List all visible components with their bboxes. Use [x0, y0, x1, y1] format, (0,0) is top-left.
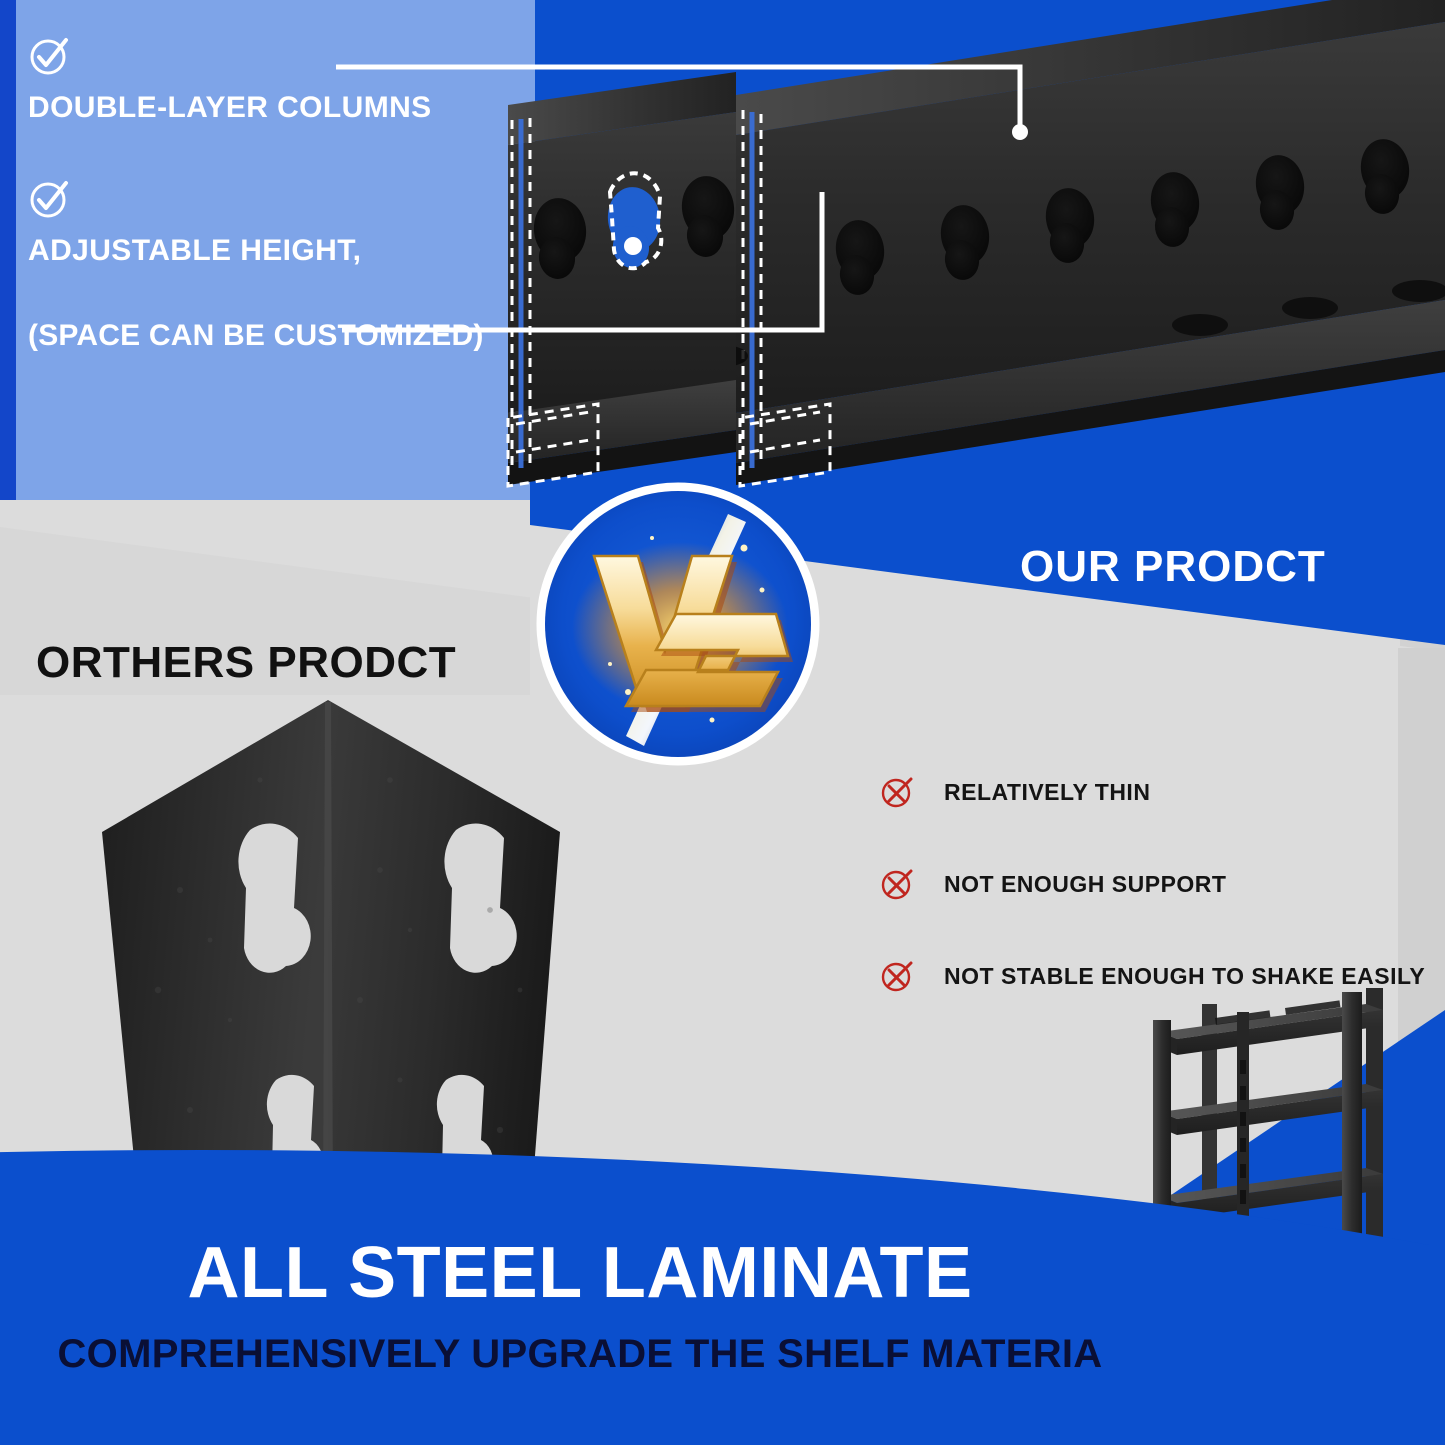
con-label: RELATIVELY THIN — [944, 779, 1150, 806]
feature-label: DOUBLE-LAYER COLUMNS — [28, 91, 528, 124]
competitor-angle-bracket-photo — [60, 690, 620, 1220]
x-circle-icon — [880, 867, 914, 901]
background-left-blue-stripe — [0, 0, 16, 545]
infographic-canvas: DOUBLE-LAYER COLUMNS ADJUSTABLE HEIGHT, … — [0, 0, 1445, 1445]
our-product-heading: OUR PRODCT — [1020, 542, 1326, 592]
feature-list: DOUBLE-LAYER COLUMNS ADJUSTABLE HEIGHT, … — [28, 35, 528, 353]
con-item-relatively-thin: RELATIVELY THIN — [880, 775, 1440, 809]
con-label: NOT ENOUGH SUPPORT — [944, 871, 1226, 898]
feature-item-adjustable-height: ADJUSTABLE HEIGHT, — [28, 178, 528, 267]
feature-label: ADJUSTABLE HEIGHT, — [28, 234, 528, 267]
feature-note: (SPACE CAN BE CUSTOMIZED) — [28, 319, 528, 353]
x-circle-icon — [880, 775, 914, 809]
check-circle-icon-wrap — [28, 35, 528, 77]
feature-item-double-layer-columns: DOUBLE-LAYER COLUMNS — [28, 35, 528, 124]
x-circle-icon — [880, 959, 914, 993]
banner-title: ALL STEEL LAMINATE — [0, 1232, 1160, 1314]
con-item-not-enough-support: NOT ENOUGH SUPPORT — [880, 867, 1440, 901]
check-circle-icon — [28, 178, 70, 220]
check-circle-icon — [28, 35, 70, 77]
check-circle-icon-wrap — [28, 178, 528, 220]
banner-subtitle: COMPREHENSIVELY UPGRADE THE SHELF MATERI… — [0, 1332, 1160, 1377]
others-product-heading: ORTHERS PRODCT — [36, 638, 456, 688]
